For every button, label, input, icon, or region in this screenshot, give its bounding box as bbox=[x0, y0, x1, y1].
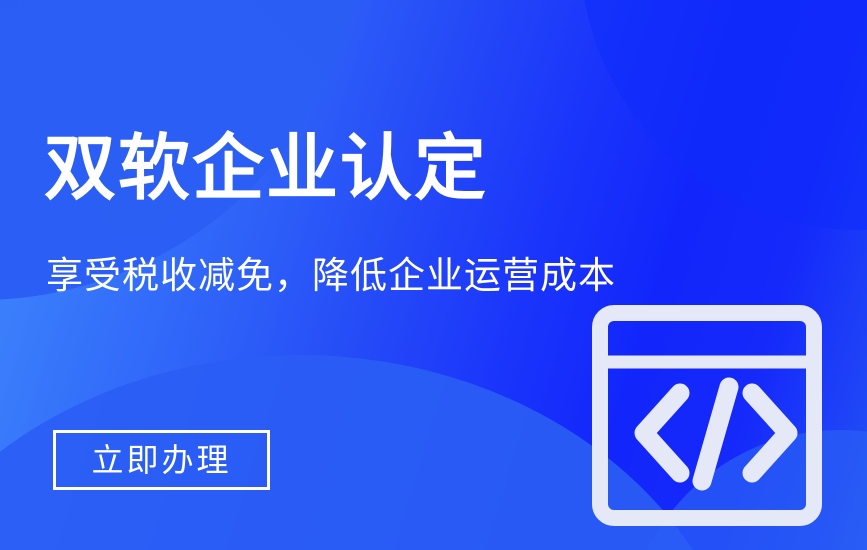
apply-now-button-label: 立即办理 bbox=[91, 443, 231, 477]
code-window-icon bbox=[592, 305, 822, 526]
page-title: 双软企业认定 bbox=[44, 126, 488, 210]
apply-now-button[interactable]: 立即办理 bbox=[53, 430, 270, 490]
promo-banner: 双软企业认定 享受税收减免，降低企业运营成本 立即办理 bbox=[0, 0, 867, 550]
banner-subtitle: 享受税收减免，降低企业运营成本 bbox=[46, 251, 616, 301]
banner-content: 双软企业认定 享受税收减免，降低企业运营成本 立即办理 bbox=[0, 0, 867, 550]
